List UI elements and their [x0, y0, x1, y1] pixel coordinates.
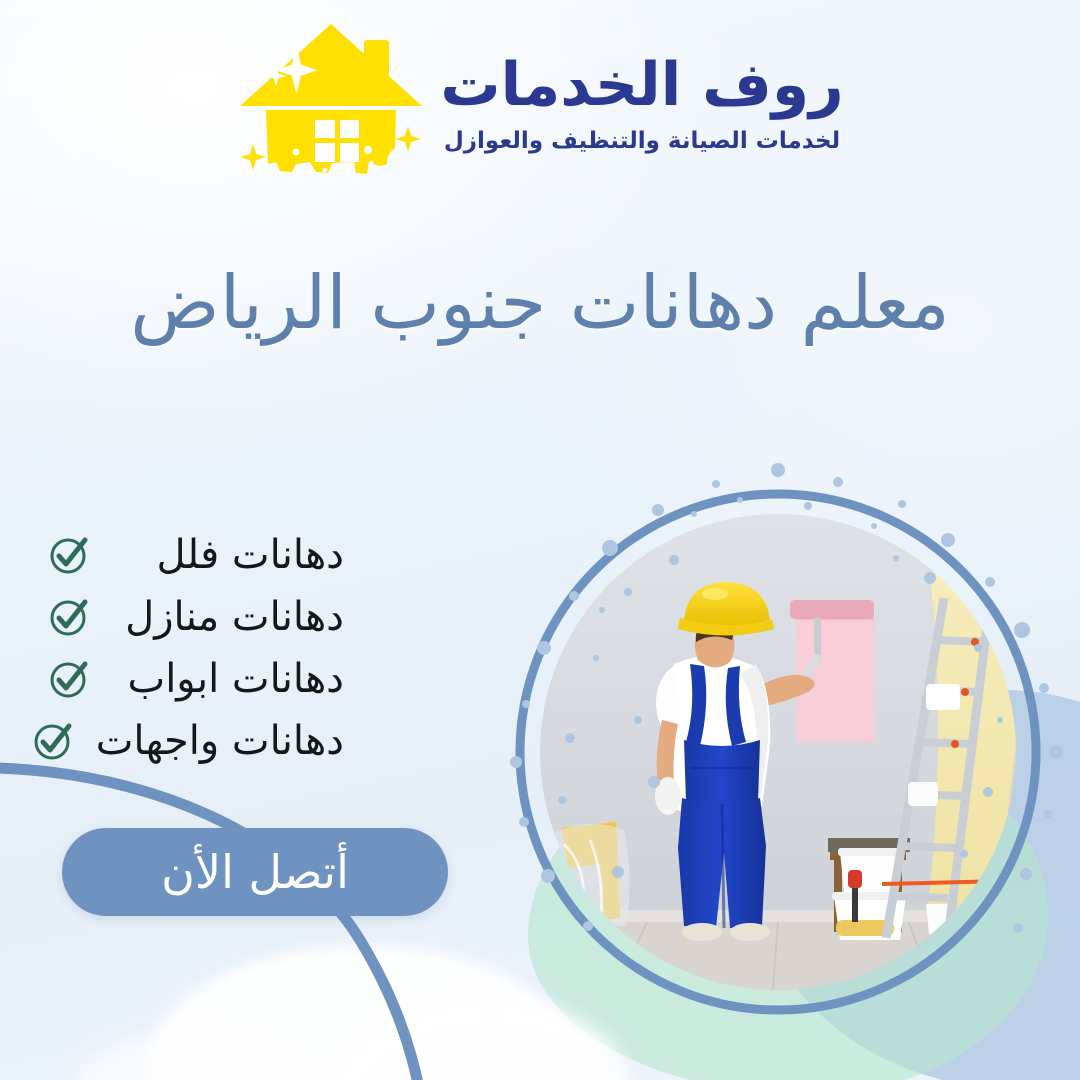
list-item: دهانات فلل [48, 528, 344, 582]
list-item: دهانات ابواب [48, 652, 344, 706]
brand-logo: روف الخدمات لخدمات الصيانة والتنظيف والع… [0, 22, 1080, 187]
brand-logo-text: روف الخدمات لخدمات الصيانة والتنظيف والع… [440, 55, 843, 154]
poster-canvas: روف الخدمات لخدمات الصيانة والتنظيف والع… [0, 0, 1080, 1080]
check-circle-icon [48, 534, 90, 576]
bucket-on-ladder [926, 684, 960, 710]
feature-label: دهانات ابواب [112, 652, 344, 706]
hero-illustration [478, 452, 1080, 1054]
feature-label: دهانات منازل [112, 590, 344, 644]
check-circle-icon [32, 720, 74, 762]
brand-logo-title: روف الخدمات [440, 55, 843, 116]
hero-image-circle [478, 452, 1080, 1054]
feature-label: دهانات واجهات [96, 714, 344, 768]
cloud-shape [60, 1032, 320, 1080]
list-item: دهانات واجهات [32, 714, 344, 768]
list-item: دهانات منازل [48, 590, 344, 644]
brand-logo-subtitle: لخدمات الصيانة والتنظيف والعوازل [440, 128, 843, 154]
check-circle-icon [48, 658, 90, 700]
check-circle-icon [48, 596, 90, 638]
call-now-button[interactable]: أتصل الأن [62, 828, 448, 916]
service-feature-list: دهانات فلل دهانات منازل دهانات ابواب دها… [32, 528, 344, 768]
feature-label: دهانات فلل [112, 528, 344, 582]
house-sparkle-icon [236, 22, 426, 187]
page-title: معلم دهانات جنوب الرياض [60, 258, 1020, 348]
